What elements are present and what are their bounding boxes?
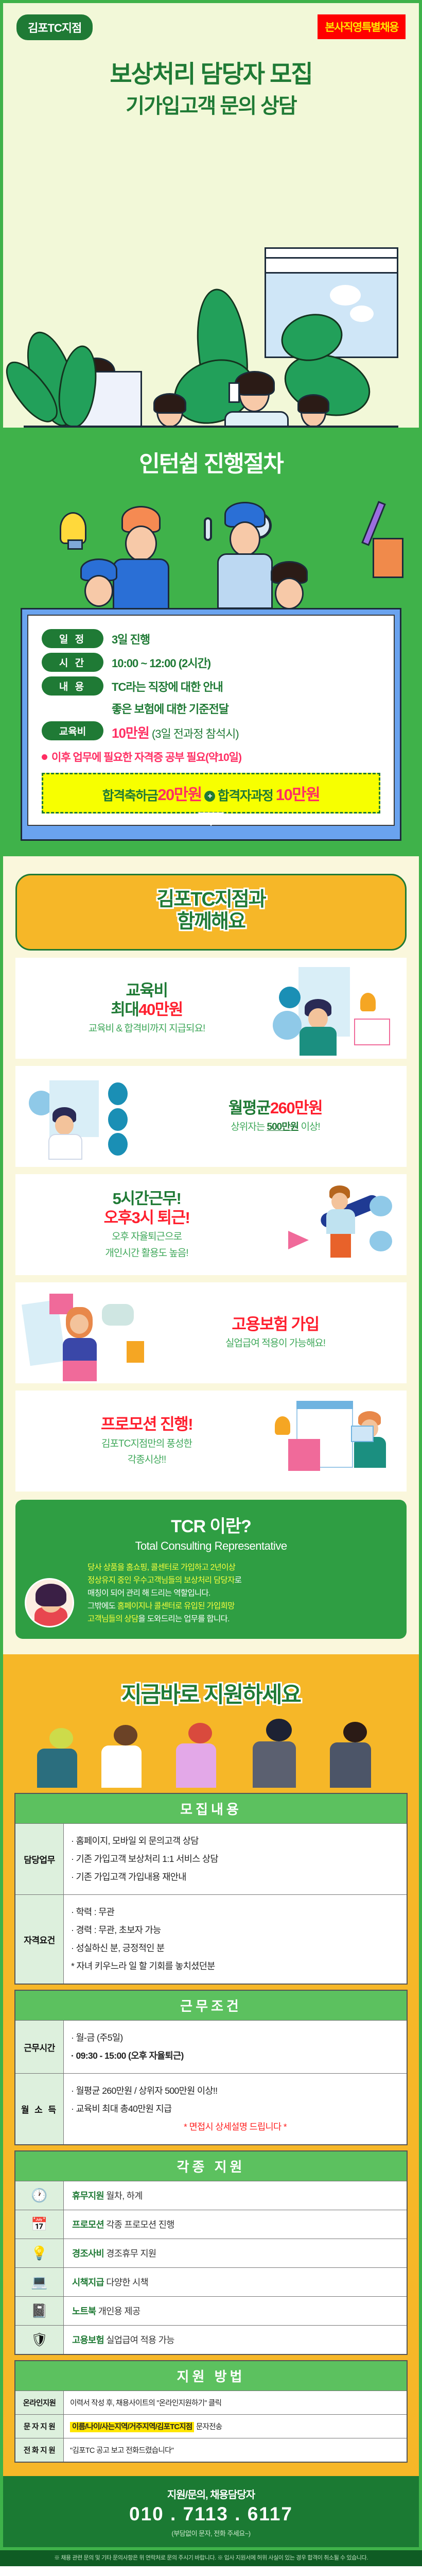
table-row: 월 소 득 · 월평균 260만원 / 상위자 500만원 이상!! · 교육비… (15, 2073, 407, 2144)
benefit-sub-line2: 각종시상!! (26, 1453, 268, 1467)
benefit-head-red: 고용보험 가입 (154, 1315, 396, 1334)
internship-card-wrapper: 일 정 3일 진행 시 간 10:00 ~ 12:00 (2시간) 내 용 TC… (3, 608, 419, 841)
table-row: 자격요건 · 학력 : 무관 · 경력 : 무관, 초보자 가능 · 성실하신 … (15, 1894, 407, 1984)
benefit-card-salary: 월평균260만원 상위자는 500만원 이상! (15, 1066, 407, 1167)
contact-footer: 지원/문의, 채용담당자 010 . 7113 . 6117 (부담없이 문자,… (0, 2476, 422, 2550)
row-key: 전 화 지 원 (15, 2438, 64, 2462)
row-line: · 학력 : 무관 (71, 1903, 399, 1921)
shield-icon: 🛡 (15, 2326, 64, 2354)
work-conditions-table: 근무조건 근무시간 · 월-금 (주5일) · 09:30 - 15:00 (오… (14, 1990, 408, 2145)
person-orange-hair (121, 506, 169, 615)
fee-note: (3일 전과정 참석시) (152, 727, 239, 740)
internship-section: 인턴쉽 진행절차 일 정 3일 진행 시 간 (0, 428, 422, 856)
person-reading-illustration (52, 1107, 82, 1160)
contact-note: (부담없이 문자, 전화 주세요~) (8, 2528, 414, 2538)
person-green (45, 1728, 77, 1788)
notebook-icon: 📓 (15, 2297, 64, 2325)
internship-content-line2: 좋은 보험에 대한 기준전달 (112, 700, 380, 717)
benefit-head-1: 5시간근무! (26, 1189, 268, 1208)
table-row: 담당업무 · 홈페이지, 모바일 외 문의고객 상담 · 기존 가입고객 보상처… (15, 1823, 407, 1894)
person-suit (339, 1722, 371, 1788)
hourglass-badge-icon (273, 1011, 302, 1040)
support-text: 각종 프로모션 진행 (106, 2219, 174, 2230)
bonus-mid: 합격자과정 (218, 789, 273, 803)
apply-method-table: 지원 방법 온라인지원 이력서 작성 후, 채용사이트의 "온라인지원하기" 클… (14, 2360, 408, 2463)
benefit-head-amount: 260만원 (270, 1099, 322, 1117)
row-line: · 월-금 (주5일) (71, 2029, 399, 2047)
sub-pre: 상위자는 (231, 1122, 267, 1132)
recruit-table-header: 모집내용 (15, 1794, 407, 1823)
method-table-header: 지원 방법 (15, 2361, 407, 2391)
benefit-card-promotion: 프로모션 진행! 김포TC지점만의 풍성한 각종시상!! (15, 1391, 407, 1492)
hero-tag-row: 김포TC지점 본사직영특별채용 (16, 14, 406, 40)
benefit-card-education: 교육비 최대40만원 교육비 & 합격비까지 지급되요! (15, 958, 407, 1059)
person-yellow-illustration (147, 396, 183, 428)
benefit-sub-line1: 오후 자율퇴근으로 (26, 1230, 268, 1244)
worktime-illustration (268, 1183, 396, 1266)
person-glasses (80, 558, 117, 607)
support-label: 노트북 (72, 2306, 96, 2316)
tcr-full-name: Total Consulting Representative (26, 1539, 396, 1553)
person-laptop-illustration (305, 999, 337, 1056)
table-row: 📅 프로모션 각종 프로모션 진행 (15, 2210, 407, 2239)
row-label: 시 간 (42, 653, 103, 672)
internship-row-fee: 교육비 10만원 (3일 전과정 참석시) (42, 721, 380, 742)
benefit-sub: 교육비 & 합격비까지 지급되요! (26, 1022, 268, 1036)
row-key: 월 소 득 (15, 2074, 64, 2144)
doc-badge-icon (108, 1133, 128, 1156)
bonus-highlight-box: 합격축하금20만원+합격자과정 10만원 (42, 773, 380, 814)
benefit-card-worktime: 5시간근무! 오후3시 퇴근! 오후 자율퇴근으로 개인시간 활용도 높음! (15, 1174, 407, 1275)
row-key: 온라인지원 (15, 2391, 64, 2414)
bulb-icon (60, 512, 86, 544)
text-badge-icon (108, 1082, 128, 1105)
blind-icon (266, 249, 397, 274)
paperclip-icon (204, 517, 212, 541)
row-line: · 09:30 - 15:00 (오후 자율퇴근) (71, 2047, 399, 2065)
hero-illustration (3, 185, 419, 428)
note-text: 이후 업무에 필요한 자격증 공부 필요(약10일) (51, 752, 241, 764)
doc-badge-icon (370, 1196, 392, 1216)
internship-row-content: 내 용 TC라는 직장에 대한 안내 (42, 676, 380, 696)
tcr-question: TCR 이란? (26, 1512, 396, 1537)
support-label: 경조사비 (72, 2248, 104, 2259)
internship-row-schedule: 일 정 3일 진행 (42, 629, 380, 648)
benefits-title-line1: 김포TC지점과 (22, 889, 400, 911)
row-key: 담당업무 (15, 1824, 64, 1894)
internship-card: 일 정 3일 진행 시 간 10:00 ~ 12:00 (2시간) 내 용 TC… (21, 608, 401, 841)
apply-title: 지금바로 지원하세요 (14, 1677, 408, 1709)
sub-post: 이상! (298, 1122, 320, 1132)
special-hiring-badge: 본사직영특별채용 (318, 14, 406, 39)
person-walking-illustration (329, 1185, 355, 1258)
row-value: 10:00 ~ 12:00 (2시간) (112, 653, 210, 671)
bulb-icon: 💡 (15, 2239, 64, 2267)
browser-titlebar (296, 1401, 353, 1409)
contact-label: 지원/문의, 채용담당자 (8, 2486, 414, 2501)
internship-row-time: 시 간 10:00 ~ 12:00 (2시간) (42, 653, 380, 672)
sub-underline: 500만원 (267, 1122, 299, 1132)
envelope-icon (351, 1426, 374, 1442)
book-icon (373, 538, 403, 578)
clock-icon: 🕐 (15, 2181, 64, 2210)
support-table-header: 각종 지원 (15, 2151, 407, 2181)
table-row: 🛡 고용보험 실업급여 적용 가능 (15, 2325, 407, 2354)
table-row: 온라인지원 이력서 작성 후, 채용사이트의 "온라인지원하기" 클릭 (15, 2391, 407, 2414)
bonus-amount-2: 10만원 (276, 786, 320, 804)
hero-section: 김포TC지점 본사직영특별채용 보상처리 담당자 모집 기가입고객 문의 상담 (0, 0, 422, 428)
tcr-desc-l4b: 홈페이지나 콜센터로 유입된 가입희망 (117, 1602, 235, 1611)
table-row: 💻 시책지급 다양한 시책 (15, 2267, 407, 2296)
laptop-icon: 💻 (15, 2268, 64, 2296)
benefits-section: 김포TC지점과 함께해요 교육비 최대40만원 교육비 & 합격비까지 지급되요… (0, 856, 422, 1654)
play-badge-icon (279, 987, 301, 1008)
internship-title: 인턴쉽 진행절차 (3, 445, 419, 478)
cloud-icon (350, 306, 374, 322)
internship-card-body: 일 정 3일 진행 시 간 10:00 ~ 12:00 (2시간) 내 용 TC… (27, 615, 395, 826)
tcr-desc-l4a: 그밖에도 (87, 1602, 117, 1611)
tcr-desc-l3: 매칭이 되어 관리 해 드리는 역할입니다. (87, 1589, 210, 1598)
person-phone-illustration (224, 375, 270, 412)
row-label: 일 정 (42, 629, 103, 648)
benefit-sub-line1: 김포TC지점만의 풍성한 (26, 1437, 268, 1451)
bonus-prefix: 합격축하금 (102, 789, 158, 803)
support-table: 각종 지원 🕐 휴무지원 월차, 하계 📅 프로모션 각종 프로모션 진행 💡 … (14, 2150, 408, 2355)
promotion-illustration (268, 1400, 396, 1482)
internship-illustration (3, 481, 419, 605)
paper-plane-icon (288, 1231, 309, 1249)
phone-icon (228, 382, 240, 403)
tcr-desc-l5a: 고객님들의 상담 (87, 1615, 138, 1623)
insurance-illustration (26, 1292, 154, 1374)
highlighted-text: 이름/나이/사는지역/거주지역/김포TC지점 (70, 2422, 194, 2432)
table-row: 💡 경조사비 경조휴무 지원 (15, 2239, 407, 2267)
salary-illustration (26, 1075, 154, 1158)
person-red (184, 1723, 216, 1788)
row-key: 문 자 지 원 (15, 2415, 64, 2438)
row-line: · 홈페이지, 모바일 외 문의고객 상담 (71, 1832, 399, 1850)
row-line: · 기존 가입고객 보상처리 1:1 서비스 상담 (71, 1850, 399, 1868)
row-line: · 성실하신 분, 긍정적인 분 (71, 1939, 399, 1957)
avatar (25, 1578, 74, 1628)
contact-phone[interactable]: 010 . 7113 . 6117 (8, 2503, 414, 2525)
row-value: 3일 진행 (112, 629, 150, 647)
support-text: 경조휴무 지원 (106, 2248, 156, 2259)
abc-card-icon (127, 1341, 144, 1363)
benefits-title-line2: 함께해요 (22, 911, 400, 933)
calendar-icon: 📅 (15, 2210, 64, 2239)
row-label: 내 용 (42, 676, 103, 696)
bullet-dot-icon (42, 754, 47, 760)
tcr-desc-l1: 당사 상품을 홈쇼핑, 콜센터로 가입하고 2년이상 (87, 1563, 235, 1572)
person-brown (110, 1725, 142, 1788)
tcr-desc-l2b: 로 (235, 1576, 242, 1585)
support-label: 휴무지원 (72, 2191, 104, 2201)
benefit-head-red: 프로모션 진행! (26, 1415, 268, 1434)
person-dark (261, 1719, 296, 1788)
support-label: 프로모션 (72, 2219, 104, 2230)
cloud-icon (330, 285, 361, 306)
bulb-badge-icon (108, 1108, 128, 1131)
row-value: "김포TC 공고 보고 전화드렸습니다" (64, 2439, 407, 2461)
footer-disclaimer: ※ 채용 관련 문의 및 기타 문의사항은 위 연락처로 문의 주시기 바랍니다… (0, 2550, 422, 2566)
recruitment-poster: 김포TC지점 본사직영특별채용 보상처리 담당자 모집 기가입고객 문의 상담 (0, 0, 422, 2566)
support-text: 실업급여 적용 가능 (106, 2335, 174, 2345)
row-line: · 경력 : 무관, 초보자 가능 (71, 1921, 399, 1939)
plus-icon: + (204, 791, 215, 802)
benefit-card-insurance: 고용보험 가입 실업급여 적용이 가능해요! (15, 1282, 407, 1383)
row-key: 자격요건 (15, 1895, 64, 1984)
page-subtitle: 기가입고객 문의 상담 (16, 89, 406, 119)
row-line: · 교육비 최대 총40만원 지급 (71, 2100, 399, 2118)
speech-bubble-icon (102, 1304, 134, 1326)
support-text: 월차, 하계 (106, 2191, 143, 2201)
row-key: 근무시간 (15, 2021, 64, 2073)
row-line: · 기존 가입고객 가입내용 재안내 (71, 1868, 399, 1886)
person-white-illustration (291, 397, 326, 428)
apply-section: 지금바로 지원하세요 모 (0, 1654, 422, 2476)
support-text: 다양한 시책 (106, 2277, 148, 2287)
benefit-head-1: 교육비 (26, 981, 268, 1000)
page-title: 보상처리 담당자 모집 (16, 60, 406, 88)
benefits-title-banner: 김포TC지점과 함께해요 (15, 874, 407, 951)
recruit-table: 모집내용 담당업무 · 홈페이지, 모바일 외 문의고객 상담 · 기존 가입고… (14, 1793, 408, 1985)
list-badge-icon (370, 1231, 392, 1251)
media-player-icon (288, 1439, 320, 1471)
row-line: * 자녀 키우느라 일 할 기회를 놓치셨던분 (71, 1957, 399, 1975)
benefit-head-2: 오후3시 퇴근! (26, 1208, 268, 1227)
support-text: 개인용 제공 (98, 2306, 140, 2316)
internship-note: 이후 업무에 필요한 자격증 공부 필요(약10일) (42, 749, 380, 765)
benefit-head-plain: 월평균 (228, 1099, 270, 1117)
table-row: 문 자 지 원 이름/나이/사는지역/거주지역/김포TC지점 문자전송 (15, 2414, 407, 2438)
tcr-description: 당사 상품을 홈쇼핑, 콜센터로 가입하고 2년이상 정상유지 중인 우수고객님… (87, 1561, 396, 1626)
card-notch-shape (198, 812, 224, 826)
row-note: * 면접시 상세설명 드립니다 * (71, 2118, 399, 2136)
education-illustration (268, 967, 396, 1049)
work-table-header: 근무조건 (15, 1991, 407, 2020)
bulb-icon (275, 1416, 290, 1435)
person-writing-illustration (66, 1307, 97, 1381)
benefit-sub: 실업급여 적용이 가능해요! (154, 1337, 396, 1350)
person-blue-hair (224, 502, 273, 609)
table-row: 근무시간 · 월-금 (주5일) · 09:30 - 15:00 (오후 자율퇴… (15, 2020, 407, 2073)
row-value: 이력서 작성 후, 채용사이트의 "온라인지원하기" 클릭 (64, 2392, 407, 2414)
table-row: 🕐 휴무지원 월차, 하계 (15, 2181, 407, 2210)
row-value: TC라는 직장에 대한 안내 (112, 676, 223, 694)
bulb-icon (360, 993, 376, 1011)
tcr-desc-l2a: 정상유지 중인 우수고객님들의 보상처리 담당자 (87, 1576, 235, 1585)
benefit-head-plain: 최대 (111, 1001, 138, 1019)
table-row: 전 화 지 원 "김포TC 공고 보고 전화드렸습니다" (15, 2438, 407, 2462)
tcr-explanation-box: TCR 이란? Total Consulting Representative … (15, 1500, 407, 1639)
person-dark-hair (271, 561, 308, 609)
benefit-head-amount: 40만원 (138, 1001, 183, 1019)
row-line: · 월평균 260만원 / 상위자 500만원 이상!! (71, 2082, 399, 2100)
bonus-amount-1: 20만원 (157, 786, 202, 804)
apply-crowd-illustration (14, 1718, 408, 1788)
support-label: 시책지급 (72, 2277, 104, 2287)
tcr-desc-l5b: 을 도와드리는 업무를 합니다. (138, 1615, 230, 1623)
benefit-sub-line2: 개인시간 활용도 높음! (26, 1247, 268, 1260)
support-label: 고용보험 (72, 2335, 104, 2345)
fee-amount: 10만원 (112, 725, 149, 741)
row-value-rest: 문자전송 (194, 2423, 222, 2431)
branch-badge: 김포TC지점 (16, 14, 93, 40)
table-row: 📓 노트북 개인용 제공 (15, 2296, 407, 2325)
row-label: 교육비 (42, 721, 103, 740)
checklist-icon (354, 1019, 390, 1045)
